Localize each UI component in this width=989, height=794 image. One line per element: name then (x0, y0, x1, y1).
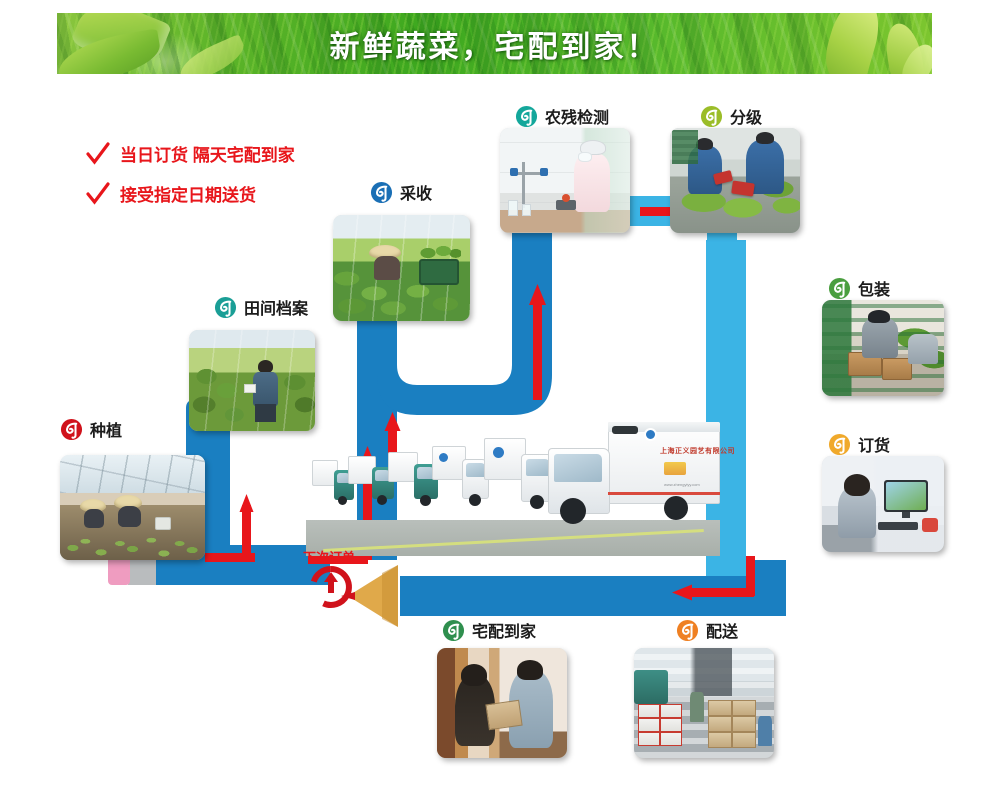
spiral-leaf-icon (828, 277, 851, 300)
step-label-grading: 分级 (700, 104, 762, 128)
step-text-packing: 包装 (858, 276, 890, 300)
photo-ordering (822, 456, 944, 552)
step-label-ordering: 订货 (828, 432, 890, 456)
spiral-leaf-icon (60, 418, 83, 441)
step-text-lab-test: 农残检测 (545, 104, 609, 128)
photo-home-delivery (437, 648, 567, 758)
step-label-planting: 种植 (60, 417, 122, 441)
spiral-leaf-icon (515, 105, 538, 128)
photo-truck-fleet: 上海正义园艺有限公司 www.zhengyiyy.com (306, 404, 720, 556)
spiral-leaf-icon (214, 296, 237, 319)
truck-company-name: 上海正义园艺有限公司 (660, 446, 735, 456)
photo-planting (60, 455, 205, 560)
infographic-canvas: 新鲜蔬菜，宅配到家！ 当日订货 隔天宅配到家 接受指定日期送货 (0, 0, 989, 794)
step-label-field-records: 田间档案 (214, 295, 308, 319)
spiral-leaf-icon (370, 181, 393, 204)
step-text-distribution: 配送 (706, 618, 738, 642)
step-text-ordering: 订货 (858, 432, 890, 456)
fleet-ground (306, 520, 720, 556)
spiral-leaf-icon (700, 105, 723, 128)
step-text-harvest: 采收 (400, 180, 432, 204)
photo-field-records (189, 330, 315, 431)
spiral-leaf-icon (442, 619, 465, 642)
step-label-lab-test: 农残检测 (515, 104, 609, 128)
photo-lab-test (500, 128, 630, 233)
truck-website-url: www.zhengyiyy.com (664, 482, 700, 487)
photo-grading (670, 128, 800, 233)
photo-distribution (634, 648, 774, 758)
spiral-leaf-icon (676, 619, 699, 642)
step-text-home-delivery: 宅配到家 (472, 618, 536, 642)
photo-packing (822, 300, 944, 396)
step-text-planting: 种植 (90, 417, 122, 441)
step-text-grading: 分级 (730, 104, 762, 128)
step-text-field-records: 田间档案 (244, 295, 308, 319)
photo-harvest (333, 215, 470, 321)
step-label-harvest: 采收 (370, 180, 432, 204)
step-label-distribution: 配送 (676, 618, 738, 642)
truck-brand-logo (664, 462, 686, 475)
step-label-home-delivery: 宅配到家 (442, 618, 536, 642)
step-label-packing: 包装 (828, 276, 890, 300)
recycle-arrow-icon (307, 563, 355, 611)
spiral-leaf-icon (828, 433, 851, 456)
